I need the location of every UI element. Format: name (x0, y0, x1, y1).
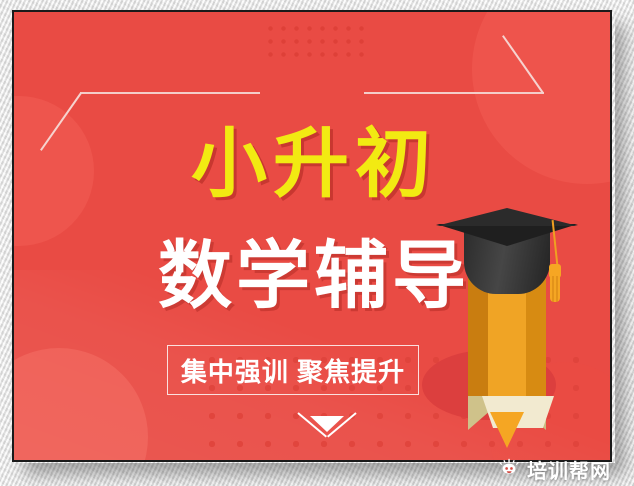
tassel-tail (550, 276, 560, 302)
pencil-graduation-artwork (442, 198, 594, 440)
pencil-lead-tip (490, 412, 524, 448)
dot-grid-top (262, 20, 366, 62)
tagline-text: 集中强训 聚焦提升 (167, 345, 419, 395)
poster-canvas: 小升初 数学辅导 集中强训 聚焦提升 (0, 0, 634, 486)
bracket-right-horizontal (364, 92, 544, 94)
headline-primary: 小升初 (14, 122, 612, 208)
sun-face-icon (498, 458, 520, 480)
watermark-text: 培训帮网 (527, 455, 611, 484)
poster-frame: 小升初 数学辅导 集中强训 聚焦提升 (12, 10, 612, 462)
graduation-cap-board (436, 208, 578, 252)
triangle-down-icon (310, 416, 344, 432)
down-arrow-icon (294, 410, 360, 458)
watermark: 培训帮网 (498, 455, 630, 483)
bracket-left-horizontal (80, 92, 260, 94)
